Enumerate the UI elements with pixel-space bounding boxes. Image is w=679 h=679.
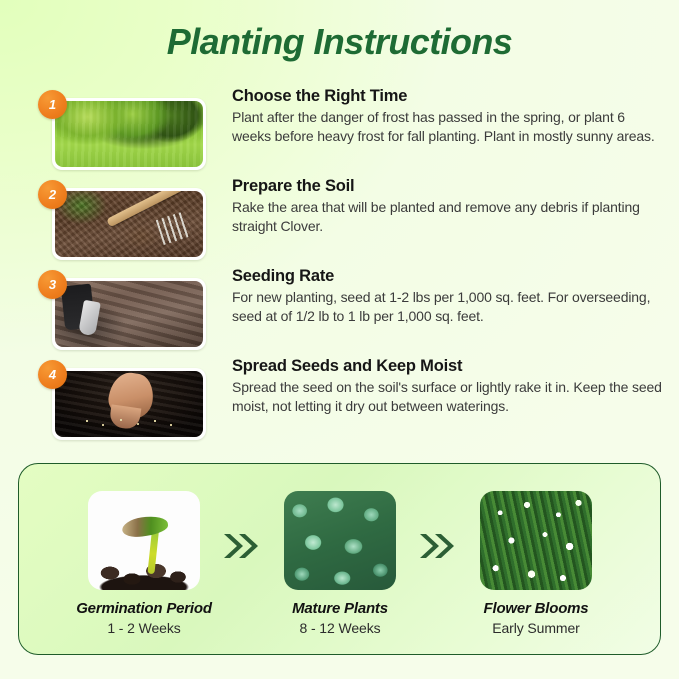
step-2-body: Rake the area that will be planted and r… (232, 198, 667, 235)
step-4-thumbnail (52, 368, 206, 440)
timeline-stage-mature: Mature Plants 8 - 12 Weeks (255, 491, 425, 637)
scattered-seeds-shape (81, 417, 181, 429)
shovel-digging-soil-photo (55, 281, 203, 347)
clover-foliage-photo (284, 491, 396, 590)
step-4-heading: Spread Seeds and Keep Moist (232, 356, 667, 376)
step-1-body: Plant after the danger of frost has pass… (232, 108, 667, 145)
photo-texture (55, 101, 203, 167)
step-item: 1 Choose the Right Time Plant after the … (0, 86, 679, 176)
step-1-thumbnail (52, 98, 206, 170)
rake-on-soil-photo (55, 191, 203, 257)
sprouting-seedling-photo (88, 491, 200, 590)
growth-timeline-row: Germination Period 1 - 2 Weeks Mature Pl… (19, 464, 662, 656)
step-3-badge: 3 (38, 270, 67, 299)
lawn-under-willow-tree-photo (55, 101, 203, 167)
white-clover-blooms-photo (480, 491, 592, 590)
hand-sowing-seeds-photo (55, 371, 203, 437)
growth-timeline-card: Germination Period 1 - 2 Weeks Mature Pl… (18, 463, 661, 655)
step-item: 3 Seeding Rate For new planting, seed at… (0, 266, 679, 356)
step-1-badge: 1 (38, 90, 67, 119)
timeline-stage-1-label: Germination Period (59, 599, 229, 618)
sprout-seed-head-shape (121, 514, 169, 539)
step-3-heading: Seeding Rate (232, 266, 667, 286)
step-1-heading: Choose the Right Time (232, 86, 667, 106)
timeline-stage-3-label: Flower Blooms (451, 599, 621, 618)
step-2-text: Prepare the Soil Rake the area that will… (232, 176, 667, 235)
step-4-text: Spread Seeds and Keep Moist Spread the s… (232, 356, 667, 415)
step-3-thumbnail (52, 278, 206, 350)
timeline-stage-germination: Germination Period 1 - 2 Weeks (59, 491, 229, 637)
step-1-text: Choose the Right Time Plant after the da… (232, 86, 667, 145)
timeline-stage-2-duration: 8 - 12 Weeks (255, 619, 425, 637)
step-2-thumbnail (52, 188, 206, 260)
timeline-stage-bloom: Flower Blooms Early Summer (451, 491, 621, 637)
step-3-body: For new planting, seed at 1-2 lbs per 1,… (232, 288, 667, 325)
page-title: Planting Instructions (0, 20, 679, 64)
step-2-badge: 2 (38, 180, 67, 209)
step-item: 2 Prepare the Soil Rake the area that wi… (0, 176, 679, 266)
step-3-text: Seeding Rate For new planting, seed at 1… (232, 266, 667, 325)
step-item: 4 Spread Seeds and Keep Moist Spread the… (0, 356, 679, 446)
timeline-stage-1-duration: 1 - 2 Weeks (59, 619, 229, 637)
step-4-badge: 4 (38, 360, 67, 389)
step-2-heading: Prepare the Soil (232, 176, 667, 196)
step-4-body: Spread the seed on the soil's surface or… (232, 378, 667, 415)
planting-instructions-infographic: Planting Instructions 1 Choose the Right… (0, 0, 679, 679)
timeline-stage-3-duration: Early Summer (451, 619, 621, 637)
timeline-stage-2-label: Mature Plants (255, 599, 425, 618)
soil-clods-shape (94, 557, 194, 590)
